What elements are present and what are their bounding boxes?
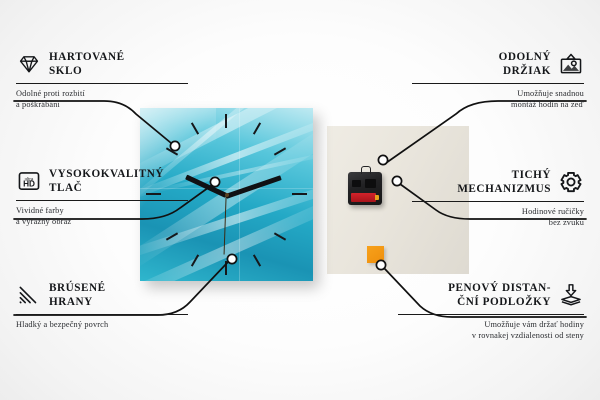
clock-tick bbox=[292, 193, 307, 195]
feature-description: Umožňuje snadnou montáž hodin na zeď bbox=[412, 88, 584, 112]
feature-header: HARTOVANÉ SKLO bbox=[16, 50, 188, 79]
clock-pivot bbox=[225, 193, 229, 197]
feature-title: BRÚSENÉ HRANY bbox=[49, 281, 106, 310]
feature-description: Hodinové ručičky bez zvuku bbox=[412, 206, 584, 230]
svg-text:HD: HD bbox=[23, 180, 35, 189]
feature-tempered-glass: HARTOVANÉ SKLO Odolné proti rozbití a po… bbox=[16, 50, 188, 111]
clock-tick bbox=[225, 261, 227, 275]
clock-tick bbox=[253, 122, 261, 134]
feature-description: Odolné proti rozbití a poškrábání bbox=[16, 88, 188, 112]
feature-ground-edges: BRÚSENÉ HRANY Hladký a bezpečný povrch bbox=[16, 281, 188, 330]
divider bbox=[398, 314, 584, 315]
feature-header: TICHÝ MECHANIZMUS bbox=[412, 168, 584, 197]
feature-description: Umožňuje vám držať hodiny v rovnakej vzd… bbox=[398, 319, 584, 343]
gear-icon bbox=[558, 169, 584, 195]
divider bbox=[412, 83, 584, 84]
mechanism-slot-right bbox=[365, 179, 376, 188]
mechanism-battery bbox=[351, 193, 376, 202]
feature-title: ODOLNÝ DRŽIAK bbox=[499, 50, 551, 79]
divider bbox=[412, 201, 584, 202]
divider bbox=[16, 83, 188, 84]
feature-title: TICHÝ MECHANIZMUS bbox=[457, 168, 551, 197]
divider bbox=[16, 314, 188, 315]
clock-tick bbox=[253, 254, 261, 266]
ground-edges-icon bbox=[16, 282, 42, 308]
feature-foam-spacers: PENOVÝ DISTAN- ČNÍ PODLOŽKY Umožňuje vám… bbox=[398, 281, 584, 342]
feature-header: PENOVÝ DISTAN- ČNÍ PODLOŽKY bbox=[398, 281, 584, 310]
clock-mechanism bbox=[348, 172, 382, 205]
picture-hanger-icon bbox=[558, 51, 584, 77]
infographic-canvas: HARTOVANÉ SKLO Odolné proti rozbití a po… bbox=[0, 0, 600, 400]
feature-description: Hladký a bezpečný povrch bbox=[16, 319, 188, 331]
feature-title: VYSOKOKVALITNÝ TLAČ bbox=[49, 167, 164, 196]
feature-title: PENOVÝ DISTAN- ČNÍ PODLOŽKY bbox=[448, 281, 551, 310]
ultra-hd-icon: ultra HD bbox=[16, 168, 42, 194]
feature-header: BRÚSENÉ HRANY bbox=[16, 281, 188, 310]
feature-header: ultra HD VYSOKOKVALITNÝ TLAČ bbox=[16, 167, 188, 196]
feature-description: Vividné farby a výrazný obraz bbox=[16, 205, 188, 229]
mechanism-slot-left bbox=[352, 180, 361, 187]
mechanism-shaft bbox=[361, 166, 371, 174]
foam-spacer-icon bbox=[558, 282, 584, 308]
feature-high-quality-print: ultra HD VYSOKOKVALITNÝ TLAČ Vividné far… bbox=[16, 167, 188, 228]
clock-tick bbox=[225, 114, 227, 128]
feature-silent-mechanism: TICHÝ MECHANIZMUS Hodinové ručičky bez z… bbox=[412, 168, 584, 229]
feature-header: ODOLNÝ DRŽIAK bbox=[412, 50, 584, 79]
glass-pane-line-vertical bbox=[239, 108, 240, 281]
foam-spacer-pad bbox=[367, 246, 384, 263]
diamond-icon bbox=[16, 51, 42, 77]
divider bbox=[16, 200, 188, 201]
feature-title: HARTOVANÉ SKLO bbox=[49, 50, 125, 79]
feature-durable-hanger: ODOLNÝ DRŽIAK Umožňuje snadnou montáž ho… bbox=[412, 50, 584, 111]
